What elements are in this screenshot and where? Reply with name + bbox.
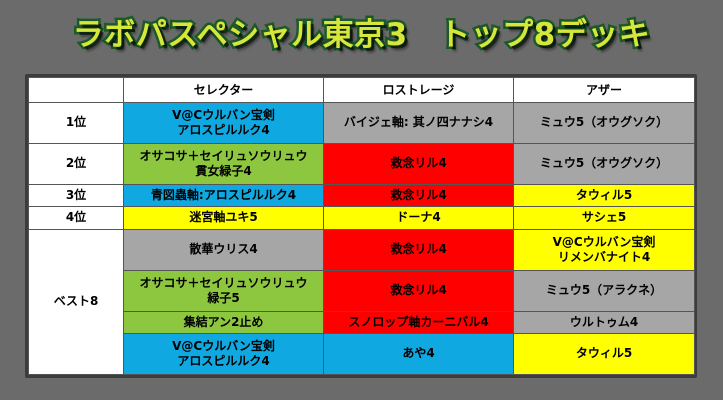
deck-cell-line: あや4 [326, 346, 511, 361]
deck-cell-lostrage: スノロップ軸カーニバル4 [324, 311, 514, 333]
deck-cell-line: タウィル5 [516, 346, 692, 361]
deck-table-frame: セレクター ロストレージ アザー 1位V@Cウルバン宝剣アロスピルルク4バイジェ… [25, 74, 697, 378]
rank-cell: ベスト8 [29, 229, 124, 374]
deck-cell-lostrage: ドーナ4 [324, 207, 514, 229]
rank-cell: 2位 [29, 143, 124, 184]
deck-cell-lostrage: 救念リル4 [324, 229, 514, 270]
deck-cell-selector: オサコサ＋セイリュソウリュウ緑子5 [124, 270, 324, 311]
deck-cell-line: 救念リル4 [326, 283, 511, 298]
table-row: 2位オサコサ＋セイリュソウリュウ貫女緑子4救念リル4ミュウ5（オウグソク） [29, 143, 695, 184]
deck-cell-line: ミュウ5（オウグソク） [516, 115, 692, 130]
table-row: 集結アン2止めスノロップ軸カーニバル4ウルトゥム4 [29, 311, 695, 333]
deck-cell-line: 貫女緑子4 [126, 164, 321, 179]
deck-cell-line: 散華ウリス4 [126, 242, 321, 257]
deck-cell-other: サシェ5 [514, 207, 695, 229]
deck-cell-line: V@Cウルバン宝剣 [126, 339, 321, 354]
deck-cell-line: ドーナ4 [326, 210, 511, 225]
deck-cell-lostrage: 救念リル4 [324, 184, 514, 206]
table-body: 1位V@Cウルバン宝剣アロスピルルク4バイジェ軸: 其ノ四ナナシ4ミュウ5（オウ… [29, 103, 695, 375]
deck-cell-selector: 集結アン2止め [124, 311, 324, 333]
rank-cell: 1位 [29, 103, 124, 144]
deck-cell-line: 緑子5 [126, 291, 321, 306]
deck-cell-line: V@Cウルバン宝剣 [516, 235, 692, 250]
deck-cell-line: スノロップ軸カーニバル4 [326, 315, 511, 330]
deck-results-table: セレクター ロストレージ アザー 1位V@Cウルバン宝剣アロスピルルク4バイジェ… [28, 77, 695, 375]
table-header: セレクター ロストレージ アザー [29, 78, 695, 103]
deck-cell-lostrage: 救念リル4 [324, 143, 514, 184]
deck-cell-other: ミュウ5（オウグソク） [514, 143, 695, 184]
rank-cell: 3位 [29, 184, 124, 206]
deck-cell-selector: V@Cウルバン宝剣アロスピルルク4 [124, 333, 324, 374]
deck-cell-line: ウルトゥム4 [516, 315, 692, 330]
deck-cell-line: オサコサ＋セイリュソウリュウ [126, 149, 321, 164]
deck-cell-line: ミュウ5（オウグソク） [516, 156, 692, 171]
title-bar: ラボパスペシャル東京3 トップ8デッキ [0, 0, 723, 70]
deck-cell-line: 救念リル4 [326, 242, 511, 257]
deck-cell-line: ミュウ5（アラクネ） [516, 283, 692, 298]
deck-cell-selector: オサコサ＋セイリュソウリュウ貫女緑子4 [124, 143, 324, 184]
deck-cell-lostrage: あや4 [324, 333, 514, 374]
deck-cell-line: 集結アン2止め [126, 315, 321, 330]
table-row: オサコサ＋セイリュソウリュウ緑子5救念リル4ミュウ5（アラクネ） [29, 270, 695, 311]
deck-cell-line: 救念リル4 [326, 156, 511, 171]
deck-cell-selector: 迷宮軸ユキ5 [124, 207, 324, 229]
deck-cell-line: バイジェ軸: 其ノ四ナナシ4 [326, 115, 511, 130]
column-header-selector: セレクター [124, 78, 324, 103]
deck-cell-line: V@Cウルバン宝剣 [126, 108, 321, 123]
table-row: 3位青図蟲軸:アロスピルルク4救念リル4タウィル5 [29, 184, 695, 206]
table-header-row: セレクター ロストレージ アザー [29, 78, 695, 103]
deck-cell-line: サシェ5 [516, 210, 692, 225]
table-row: ベスト8散華ウリス4救念リル4V@Cウルバン宝剣リメンバナイト4 [29, 229, 695, 270]
deck-cell-selector: 散華ウリス4 [124, 229, 324, 270]
column-header-lostrage: ロストレージ [324, 78, 514, 103]
column-header-other: アザー [514, 78, 695, 103]
rank-cell: 4位 [29, 207, 124, 229]
table-row: V@Cウルバン宝剣アロスピルルク4あや4タウィル5 [29, 333, 695, 374]
table-row: 4位迷宮軸ユキ5ドーナ4サシェ5 [29, 207, 695, 229]
table-row: 1位V@Cウルバン宝剣アロスピルルク4バイジェ軸: 其ノ四ナナシ4ミュウ5（オウ… [29, 103, 695, 144]
deck-cell-line: 青図蟲軸:アロスピルルク4 [126, 188, 321, 203]
deck-cell-line: アロスピルルク4 [126, 354, 321, 369]
deck-cell-selector: 青図蟲軸:アロスピルルク4 [124, 184, 324, 206]
deck-cell-line: オサコサ＋セイリュソウリュウ [126, 276, 321, 291]
deck-cell-line: タウィル5 [516, 188, 692, 203]
column-header-rank [29, 78, 124, 103]
deck-cell-line: 迷宮軸ユキ5 [126, 210, 321, 225]
deck-cell-other: V@Cウルバン宝剣リメンバナイト4 [514, 229, 695, 270]
deck-cell-lostrage: 救念リル4 [324, 270, 514, 311]
deck-cell-line: リメンバナイト4 [516, 250, 692, 265]
deck-cell-line: アロスピルルク4 [126, 123, 321, 138]
deck-cell-other: ミュウ5（オウグソク） [514, 103, 695, 144]
deck-cell-other: タウィル5 [514, 184, 695, 206]
deck-cell-line: 救念リル4 [326, 188, 511, 203]
deck-cell-selector: V@Cウルバン宝剣アロスピルルク4 [124, 103, 324, 144]
page-title: ラボパスペシャル東京3 トップ8デッキ [73, 20, 650, 51]
deck-cell-other: ミュウ5（アラクネ） [514, 270, 695, 311]
deck-cell-lostrage: バイジェ軸: 其ノ四ナナシ4 [324, 103, 514, 144]
deck-cell-other: ウルトゥム4 [514, 311, 695, 333]
deck-cell-other: タウィル5 [514, 333, 695, 374]
